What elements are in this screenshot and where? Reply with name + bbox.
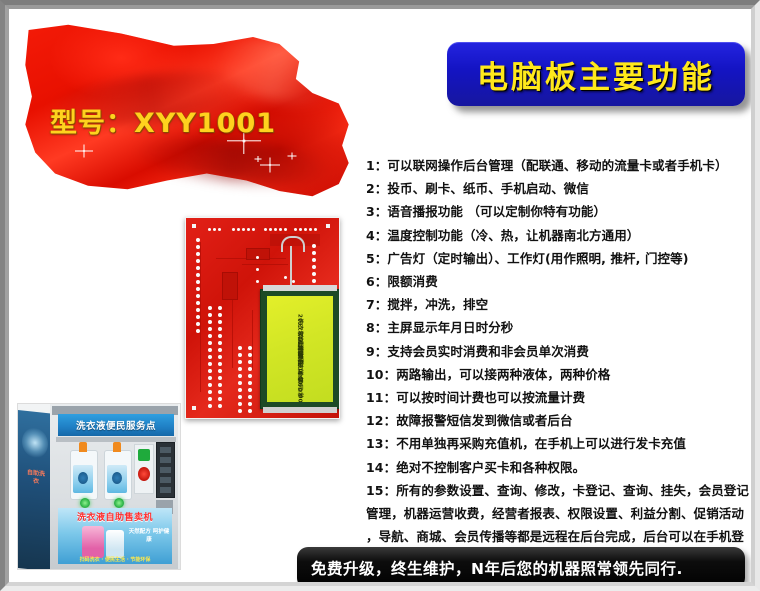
pin-header bbox=[238, 346, 242, 413]
advertisement-panel: 洗衣液自助售卖机 天然配方 呵护健康 扫码洗衣 · 便民生活 · 节能环保 bbox=[58, 508, 172, 564]
lcd-bezel-bottom bbox=[263, 407, 337, 413]
side-panel-text: 自助洗衣 bbox=[26, 469, 46, 487]
header-sign-text: 洗衣液便民服务点 bbox=[76, 418, 156, 432]
lcd-text-line: 余额: 0.00元 bbox=[295, 303, 302, 402]
model-number-label: 型号：XYY1001 bbox=[50, 101, 276, 140]
pin-header bbox=[218, 306, 222, 408]
detergent-bottle bbox=[70, 450, 98, 500]
feature-item: 15：所有的参数设置、查询、修改，卡登记、查询、挂失，会员登记 bbox=[366, 479, 751, 502]
feature-item: 8：主屏显示年月日时分秒 bbox=[366, 316, 751, 339]
lcd-bezel-top bbox=[263, 285, 337, 291]
vending-machine-side-panel: 自助洗衣 bbox=[18, 410, 52, 570]
feature-item: 11：可以按时间计费也可以按流量计费 bbox=[366, 386, 751, 409]
pin-header bbox=[208, 228, 221, 231]
pin-header bbox=[232, 228, 255, 231]
feature-item-continuation: ，导航、商城、会员传播等都是远程在后台完成，后台可以在手机登 bbox=[366, 525, 751, 548]
control-panel[interactable] bbox=[134, 444, 154, 494]
emergency-button[interactable] bbox=[138, 467, 150, 481]
feature-item: 4：温度控制功能（冷、热，让机器南北方通用） bbox=[366, 224, 751, 247]
feature-item: 10：两路输出，可以接两种液体，两种价格 bbox=[366, 363, 751, 386]
feature-item: 5：广告灯（定时输出）、工作灯(用作照明, 推杆, 门控等) bbox=[366, 247, 751, 270]
title-banner: 电脑板主要功能 bbox=[447, 42, 745, 106]
ad-footer-text: 扫码洗衣 · 便民生活 · 节能环保 bbox=[58, 556, 172, 563]
feature-item: 6：限额消费 bbox=[366, 270, 751, 293]
bottle-cap bbox=[79, 442, 87, 452]
detergent-bottle bbox=[104, 450, 132, 500]
feature-item: 13：不用单独再采购充值机，在手机上可以进行发卡充值 bbox=[366, 432, 751, 455]
feature-item: 2：投币、刷卡、纸币、手机启动、微信 bbox=[366, 177, 751, 200]
ad-bottle-white bbox=[106, 530, 124, 558]
feature-item: 1：可以联网操作后台管理（配联通、移动的流量卡或者手机卡） bbox=[366, 154, 751, 177]
bottle-label bbox=[73, 465, 93, 493]
bottle-cap bbox=[113, 442, 121, 452]
pin-header bbox=[248, 346, 252, 413]
controller-board-image: 欢迎光临 洗衣液自助售卖机 请选择液体 2017年10月21日 11:26 单价… bbox=[185, 217, 340, 419]
water-swirl-icon bbox=[22, 426, 48, 459]
ad-bottle-pink bbox=[82, 526, 104, 558]
keypad[interactable] bbox=[156, 442, 175, 498]
feature-item: 7：搅拌，冲洗，排空 bbox=[366, 293, 751, 316]
lcd-screen: 欢迎光临 洗衣液自助售卖机 请选择液体 2017年10月21日 11:26 单价… bbox=[267, 296, 333, 402]
feature-list: 1：可以联网操作后台管理（配联通、移动的流量卡或者手机卡） 2：投币、刷卡、纸币… bbox=[366, 154, 751, 572]
status-led-indicator bbox=[114, 498, 124, 508]
ad-title: 洗衣液自助售卖机 bbox=[58, 510, 172, 523]
ic-chip bbox=[222, 272, 238, 300]
footer-text: 免费升级，终生维护，N年后您的机器照常领先同行. bbox=[297, 557, 683, 579]
poster-canvas: 型号：XYY1001 电脑板主要功能 1：可以联网操作后台管理（配联通、移动的流… bbox=[9, 9, 751, 582]
pin-header bbox=[312, 244, 316, 283]
pin-header bbox=[294, 228, 317, 231]
pin-header bbox=[208, 306, 212, 408]
bottle-label bbox=[107, 465, 127, 493]
ad-slogan: 天然配方 呵护健康 bbox=[128, 528, 170, 544]
vending-machine-header-sign: 洗衣液便民服务点 bbox=[58, 414, 174, 436]
pin-header bbox=[196, 238, 200, 333]
feature-item: 14：绝对不控制客户买卡和各种权限。 bbox=[366, 456, 751, 479]
feature-item: 3：语音播报功能 （可以定制你特有功能） bbox=[366, 200, 751, 223]
feature-item: 9：支持会员实时消费和非会员单次消费 bbox=[366, 340, 751, 363]
page-title: 电脑板主要功能 bbox=[477, 52, 715, 97]
red-flag-graphic: 型号：XYY1001 bbox=[22, 23, 352, 215]
feature-item-continuation: 管理，机器运营收费，经营者报表、权限设置、利益分割、促销活动 bbox=[366, 502, 751, 525]
exit-sign-icon bbox=[138, 449, 150, 461]
lcd-display: 欢迎光临 洗衣液自助售卖机 请选择液体 2017年10月21日 11:26 单价… bbox=[260, 289, 340, 409]
poster-page: 型号：XYY1001 电脑板主要功能 1：可以联网操作后台管理（配联通、移动的流… bbox=[0, 0, 760, 591]
footer-banner: 免费升级，终生维护，N年后您的机器照常领先同行. bbox=[297, 547, 745, 582]
vending-machine-image: 自助洗衣 洗衣液便民服务点 洗衣液自助售卖机 天然 bbox=[17, 403, 181, 570]
pin-header bbox=[264, 228, 287, 231]
status-led-indicator bbox=[80, 498, 90, 508]
feature-item: 12：故障报警短信发到微信或者后台 bbox=[366, 409, 751, 432]
